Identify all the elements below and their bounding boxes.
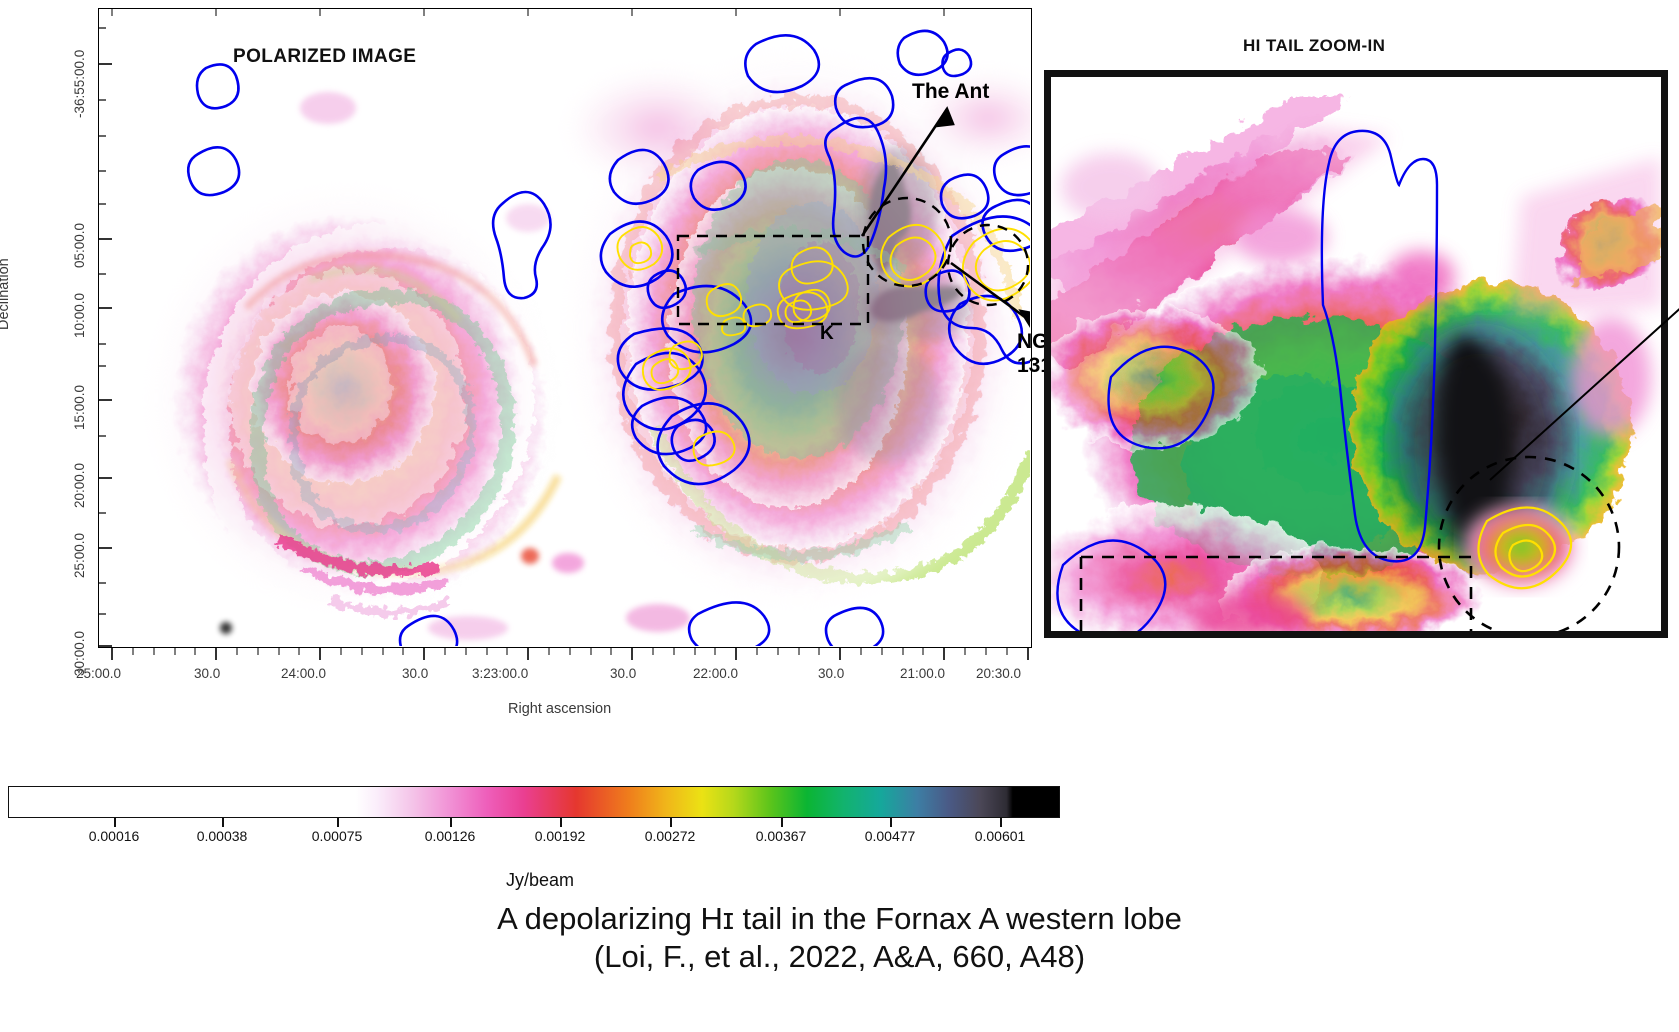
colorbar-label-2: 0.00075 <box>312 828 363 844</box>
colorbar-tick-8 <box>1000 818 1002 827</box>
figure-root: POLARIZED IMAGE The Ant NGC 1310 K <box>0 0 1679 1032</box>
colorbar-label-7: 0.00477 <box>865 828 916 844</box>
colorbar-label-0: 0.00016 <box>89 828 140 844</box>
colorbar-label-3: 0.00126 <box>425 828 476 844</box>
ra-tick-2: 24:00.0 <box>281 666 326 681</box>
colorbar-tick-0 <box>114 818 116 827</box>
ra-tick-7: 30.0 <box>818 666 844 681</box>
figure-caption: A depolarizing Hɪ tail in the Fornax A w… <box>0 900 1679 976</box>
ra-tick-1: 30.0 <box>194 666 220 681</box>
hi-tail-zoom-title: HI TAIL ZOOM-IN <box>1243 36 1385 56</box>
colorbar <box>8 786 1060 818</box>
dec-tick-5: 25:00.0 <box>72 533 87 578</box>
dec-tick-4: 20:00.0 <box>72 463 87 508</box>
dec-tick-2: 10:00.0 <box>72 293 87 338</box>
colorbar-label-1: 0.00038 <box>197 828 248 844</box>
colorbar-gradient <box>9 787 1059 817</box>
colorbar-label-5: 0.00272 <box>645 828 696 844</box>
colorbar-label-8: 0.00601 <box>975 828 1026 844</box>
zoom-connector-line <box>1030 290 1679 510</box>
colorbar-tick-3 <box>450 818 452 827</box>
dec-tick-0: -36:55:00.0 <box>72 50 87 118</box>
ra-tick-9: 20:30.0 <box>976 666 1021 681</box>
dec-axis-label: Declination <box>0 258 12 330</box>
caption-line-2: (Loi, F., et al., 2022, A&A, 660, A48) <box>0 938 1679 976</box>
colorbar-tick-7 <box>890 818 892 827</box>
ra-tick-4: 3:23:00.0 <box>472 666 528 681</box>
ra-axis-label: Right ascension <box>508 701 611 717</box>
ra-tick-0: 25:00.0 <box>76 666 121 681</box>
left-panel-axis-ticks <box>98 8 1034 668</box>
ra-tick-8: 21:00.0 <box>900 666 945 681</box>
ra-tick-5: 30.0 <box>610 666 636 681</box>
caption-line-1: A depolarizing Hɪ tail in the Fornax A w… <box>0 900 1679 938</box>
ra-tick-6: 22:00.0 <box>693 666 738 681</box>
ra-tick-3: 30.0 <box>402 666 428 681</box>
colorbar-tick-4 <box>560 818 562 827</box>
dec-tick-1: 05:00.0 <box>72 223 87 268</box>
colorbar-unit-label: Jy/beam <box>0 870 1080 891</box>
dec-tick-3: 15:00.0 <box>72 385 87 430</box>
colorbar-label-6: 0.00367 <box>756 828 807 844</box>
colorbar-tick-2 <box>337 818 339 827</box>
colorbar-tick-1 <box>222 818 224 827</box>
colorbar-tick-6 <box>781 818 783 827</box>
colorbar-label-4: 0.00192 <box>535 828 586 844</box>
colorbar-tick-5 <box>670 818 672 827</box>
